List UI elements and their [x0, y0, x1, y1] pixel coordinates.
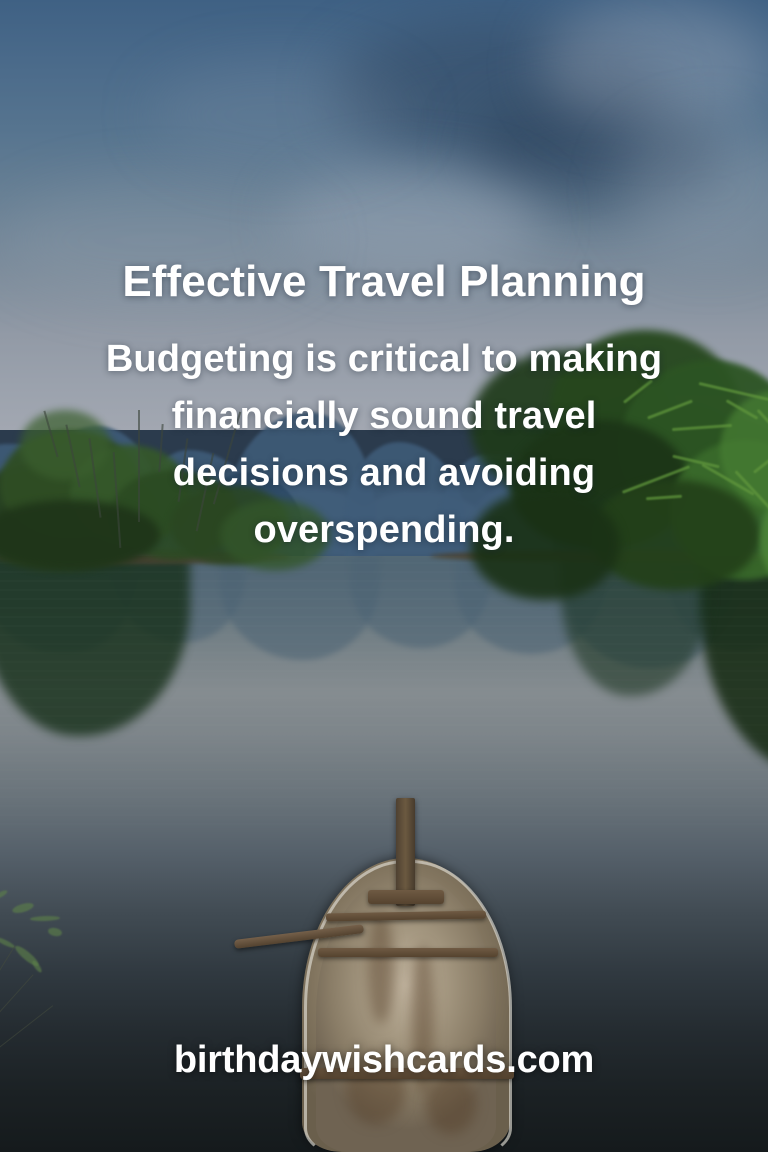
- text-overlay: Effective Travel Planning Budgeting is c…: [0, 0, 768, 1152]
- page-title: Effective Travel Planning: [0, 257, 768, 307]
- quote-text: Budgeting is critical to making financia…: [84, 331, 684, 559]
- travel-quote-card: Effective Travel Planning Budgeting is c…: [0, 0, 768, 1152]
- website-footer[interactable]: birthdaywishcards.com: [0, 1039, 768, 1082]
